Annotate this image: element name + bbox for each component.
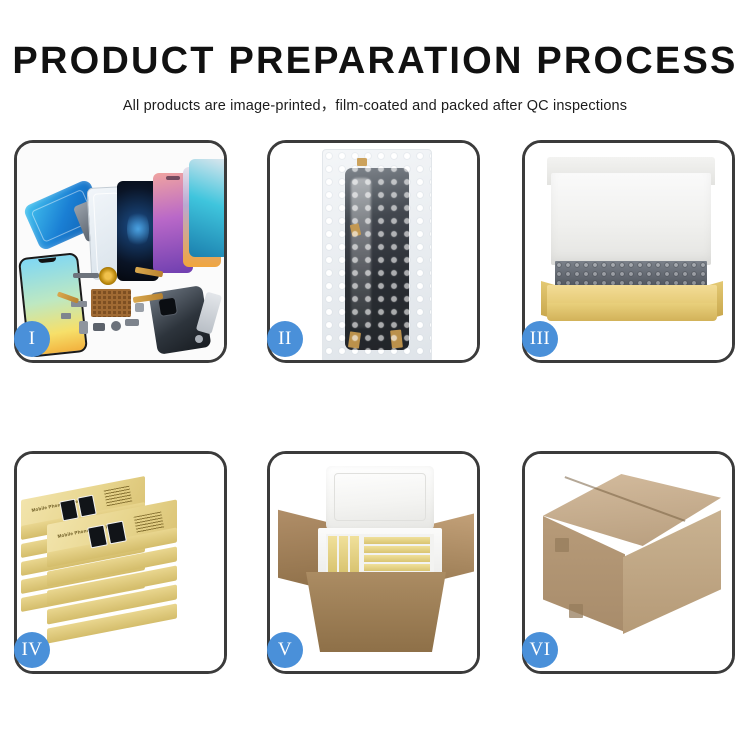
- process-step-card-5[interactable]: V: [267, 451, 480, 674]
- packed-box-icon-7: [364, 564, 430, 571]
- process-step-grid: I II: [14, 140, 740, 680]
- bubble-wrap-sheet-icon: [322, 149, 432, 360]
- page-title: PRODUCT PREPARATION PROCESS: [0, 42, 750, 82]
- step-badge-5: V: [267, 632, 303, 668]
- button-part-icon: [111, 321, 121, 331]
- screw-icon: [195, 335, 203, 343]
- camera-part-icon: [93, 323, 105, 331]
- packed-box-icon-6: [364, 555, 430, 562]
- connector-part-icon: [73, 273, 99, 278]
- step-5-image: [270, 454, 477, 671]
- styrofoam-lid-icon: [326, 466, 434, 530]
- carton-body-icon: [306, 572, 446, 652]
- tape-piece-icon-1: [357, 158, 367, 166]
- step-badge-1: I: [14, 321, 50, 357]
- packed-box-icon-1: [328, 536, 337, 572]
- header: PRODUCT PREPARATION PROCESS All products…: [0, 0, 750, 115]
- step-3-image: [525, 143, 732, 360]
- ic-chip-grid-icon: [91, 289, 131, 317]
- step-6-image: [525, 454, 732, 671]
- process-step-card-1[interactable]: I: [14, 140, 227, 363]
- carton-tape-icon-2: [569, 604, 583, 618]
- vibrator-part-icon: [125, 319, 139, 326]
- process-step-card-2[interactable]: II: [267, 140, 480, 363]
- product-preparation-process-page: PRODUCT PREPARATION PROCESS All products…: [0, 0, 750, 750]
- speaker-coil-icon: [99, 267, 117, 285]
- tape-piece-icon-3: [348, 331, 361, 348]
- packed-box-icon-5: [364, 546, 430, 553]
- clip-part-icon: [61, 313, 71, 319]
- packed-box-icon-2: [339, 536, 348, 572]
- step-2-image: [270, 143, 477, 360]
- teal-phone-icon: [189, 159, 224, 257]
- foam-sheet-icon: [551, 173, 711, 265]
- yellow-box-front-icon: [547, 303, 717, 321]
- page-subtitle: All products are image-printed，film-coat…: [0, 94, 750, 115]
- step-badge-2: II: [267, 321, 303, 357]
- tape-piece-icon-4: [390, 329, 403, 348]
- step-1-image: [17, 143, 224, 360]
- process-step-card-4[interactable]: Mobile Phone Spare Parts Mobile Phone Sp…: [14, 451, 227, 674]
- chip-part-icon: [135, 303, 144, 312]
- step-badge-3: III: [522, 321, 558, 357]
- step-badge-6: VI: [522, 632, 558, 668]
- process-step-card-6[interactable]: VI: [522, 451, 735, 674]
- process-step-card-3[interactable]: III: [522, 140, 735, 363]
- screen-sheen: [351, 178, 371, 328]
- wrapped-screen-icon: [345, 168, 409, 350]
- carton-tape-icon-1: [555, 538, 569, 552]
- packed-box-icon-4: [364, 537, 430, 544]
- sim-tray-part-icon: [79, 321, 88, 334]
- step-badge-4: IV: [14, 632, 50, 668]
- step-4-image: Mobile Phone Spare Parts Mobile Phone Sp…: [17, 454, 224, 671]
- packed-boxes-area: [326, 534, 434, 574]
- packed-box-icon-3: [350, 536, 359, 572]
